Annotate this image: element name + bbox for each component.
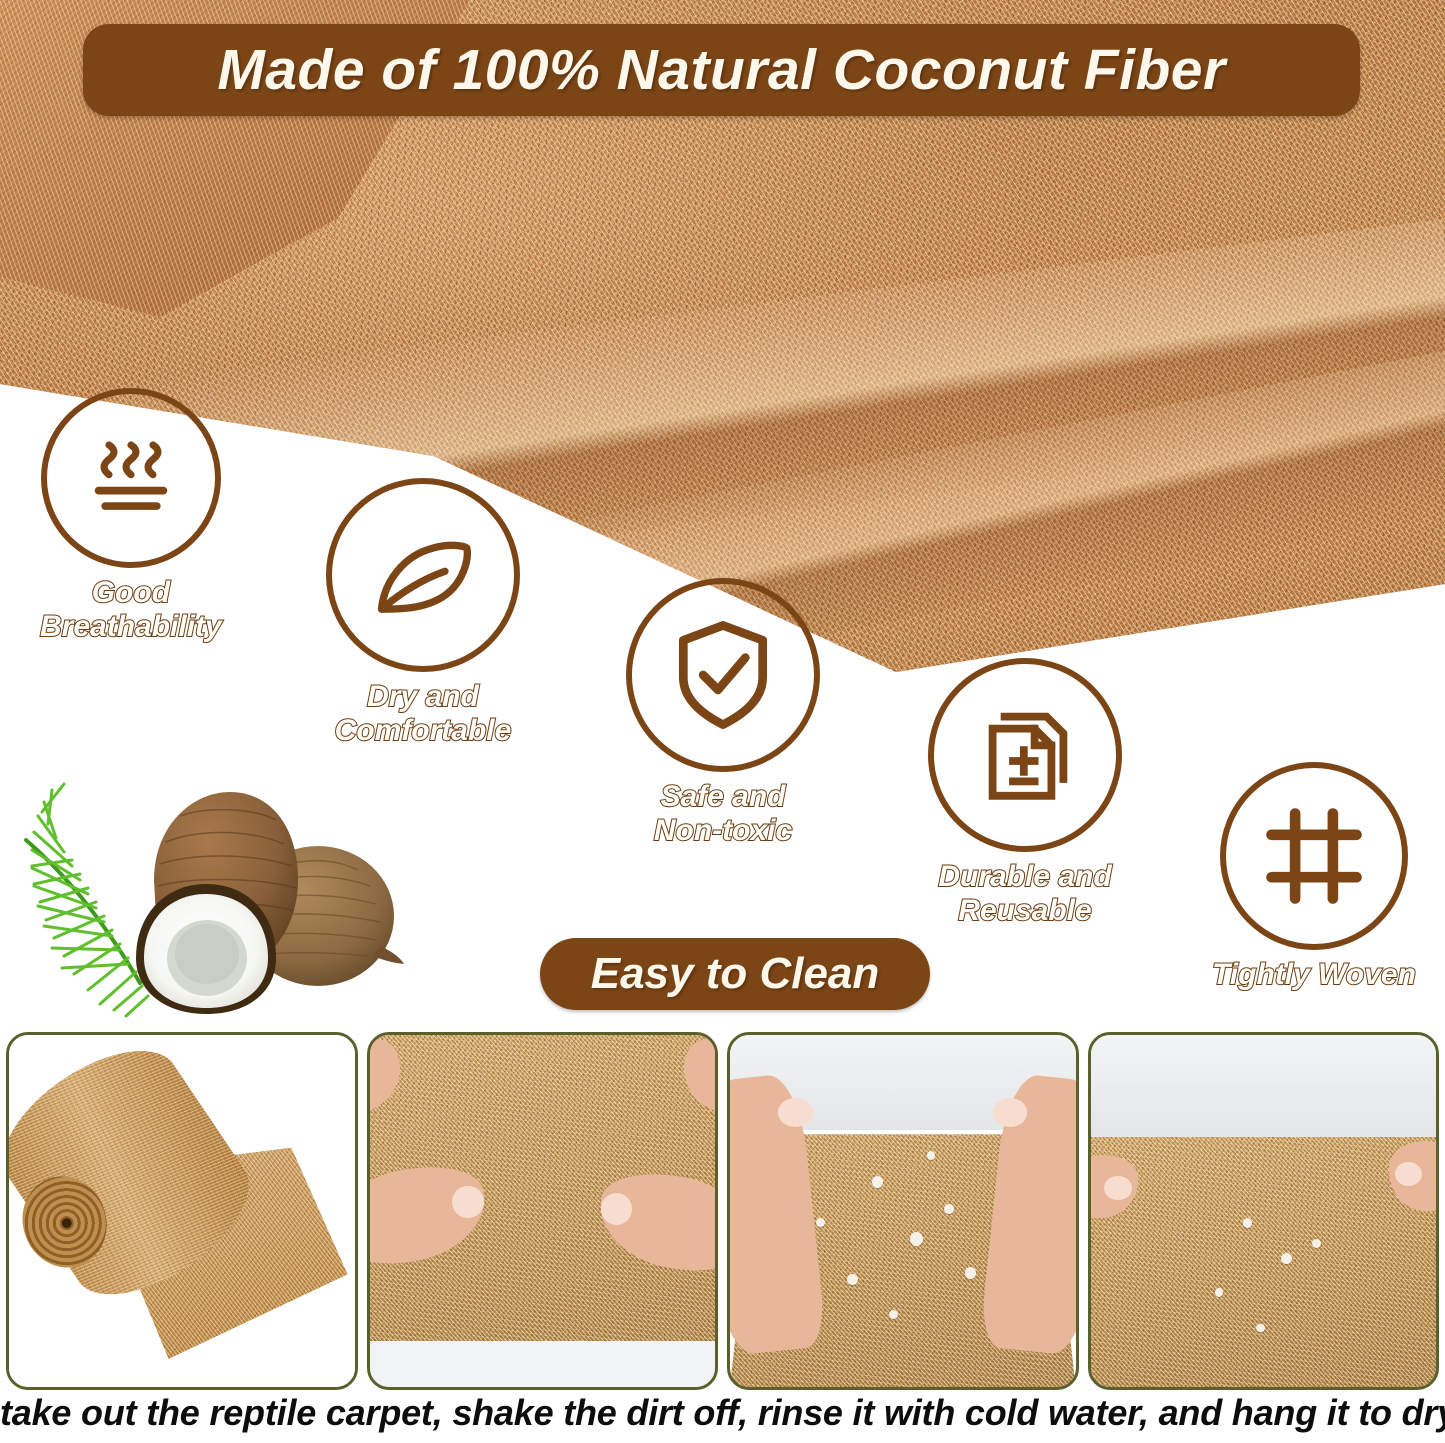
leaf-icon [362, 514, 484, 636]
feature-icon-circle [1220, 762, 1408, 950]
photo-hang-to-dry [1088, 1032, 1440, 1390]
feature-icon-circle [626, 578, 820, 772]
steam-lines-icon [76, 423, 186, 533]
care-instruction-caption: take out the reptile carpet, shake the d… [0, 1392, 1445, 1434]
feature-label: Dry and Comfortable [335, 680, 512, 747]
photo-strip [6, 1032, 1439, 1390]
stacked-documents-icon [965, 695, 1085, 815]
page-title: Made of 100% Natural Coconut Fiber [217, 37, 1225, 103]
palm-leaf [26, 784, 148, 1016]
easy-to-clean-label: Easy to Clean [591, 949, 880, 999]
coconuts-with-palm-leaf-graphic [8, 768, 428, 1020]
photo-rinse-water [727, 1032, 1079, 1390]
photo-shake-dirt [367, 1032, 719, 1390]
feature-tightly-woven: Tightly Woven [1212, 762, 1416, 992]
feature-label: Good Breathability [40, 576, 222, 643]
feature-safe-nontoxic: Safe and Non-toxic [626, 578, 820, 847]
feature-icon-circle [928, 658, 1122, 852]
feature-dry-comfortable: Dry and Comfortable [326, 478, 520, 747]
easy-to-clean-banner: Easy to Clean [540, 938, 930, 1010]
weave-grid-icon [1255, 797, 1373, 915]
feature-label: Durable and Reusable [938, 860, 1111, 927]
infographic-canvas: Made of 100% Natural Coconut Fiber Good … [0, 0, 1445, 1443]
coconut-halved [136, 792, 298, 1014]
feature-label: Tightly Woven [1212, 958, 1416, 992]
feature-breathability: Good Breathability [40, 388, 222, 643]
feature-icon-circle [326, 478, 520, 672]
coconut-image [8, 768, 428, 1020]
photo-rolled-mat [6, 1032, 358, 1390]
shield-check-icon [661, 613, 785, 737]
feature-label: Safe and Non-toxic [654, 780, 792, 847]
title-banner: Made of 100% Natural Coconut Fiber [83, 24, 1360, 116]
feature-durable-reusable: Durable and Reusable [928, 658, 1122, 927]
feature-icon-circle [41, 388, 221, 568]
